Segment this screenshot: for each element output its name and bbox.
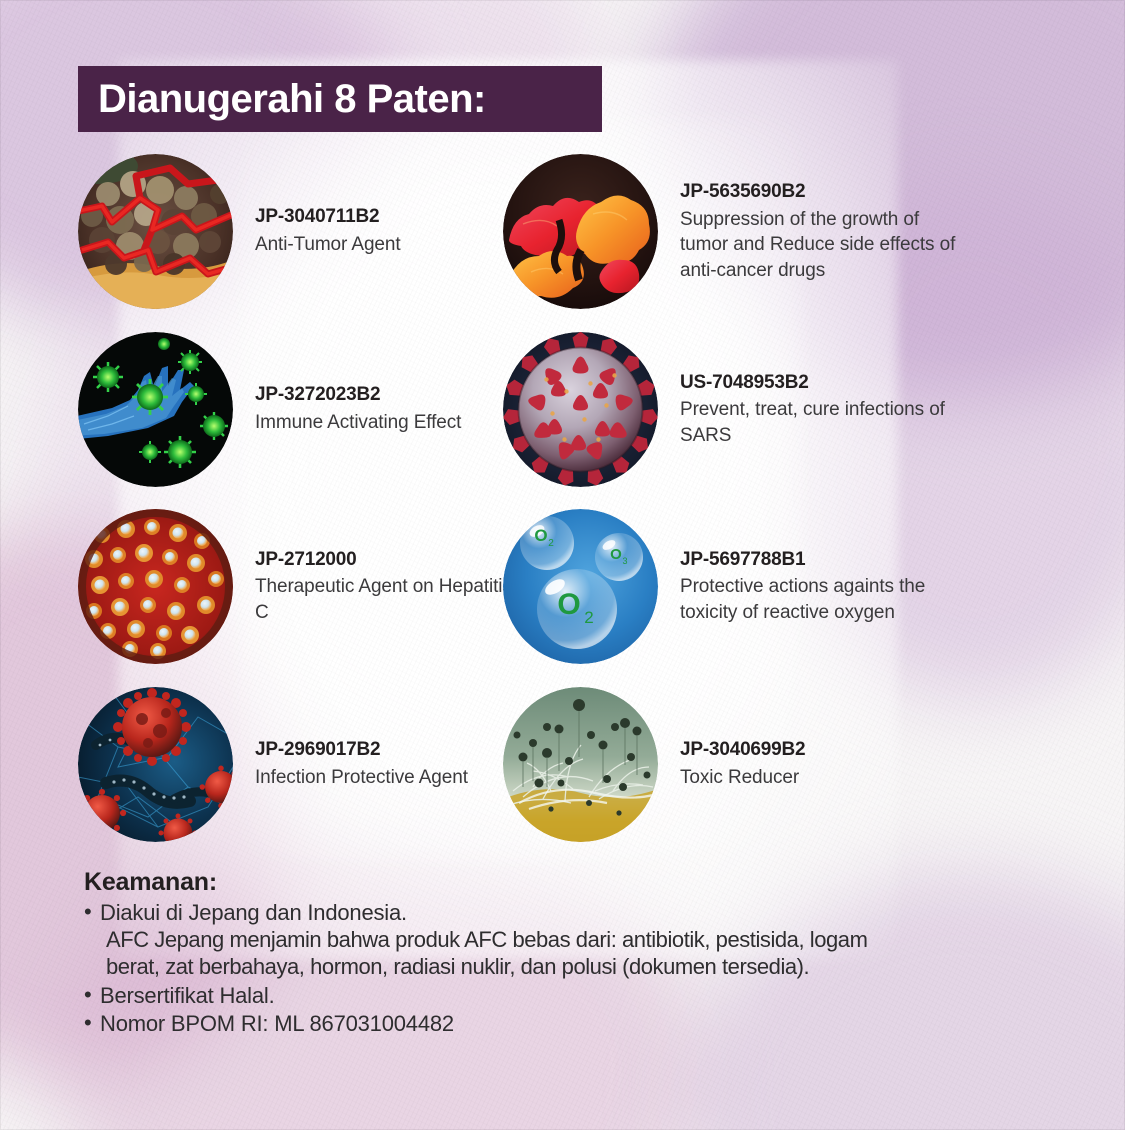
patent-description: Anti-Tumor Agent: [255, 232, 401, 257]
patent-description: Infection Protective Agent: [255, 765, 468, 790]
svg-text:2: 2: [548, 538, 554, 549]
svg-text:O: O: [557, 588, 580, 621]
poster-content: Dianugerahi 8 Paten:: [0, 0, 1125, 1130]
svg-text:2: 2: [584, 608, 593, 627]
svg-text:O: O: [534, 526, 547, 545]
safety-item-line2: berat, zat berbahaya, hormon, radiasi nu…: [106, 954, 1054, 981]
patent-item[interactable]: JP-2969017B2 Infection Protective Agent: [78, 681, 468, 847]
patent-code: US-7048953B2: [680, 370, 963, 396]
poster-page: Dianugerahi 8 Paten:: [0, 0, 1125, 1130]
safety-item-text: Nomor BPOM RI: ML 867031004482: [100, 1011, 454, 1036]
patent-description: Therapeutic Agent on Hepatitis C: [255, 574, 518, 625]
patent-caption: JP-3040699B2 Toxic Reducer: [680, 737, 805, 790]
coronavirus-particle-photo: [503, 332, 658, 487]
title-banner: Dianugerahi 8 Paten:: [78, 66, 602, 132]
patent-code: JP-3040699B2: [680, 737, 805, 763]
patent-description: Suppression of the growth of tumor and R…: [680, 207, 963, 283]
patent-item[interactable]: JP-5635690B2 Suppression of the growth o…: [503, 148, 963, 314]
patent-description: Prevent, treat, cure infections of SARS: [680, 397, 963, 448]
patent-caption: JP-5697788B1 Protective actions againts …: [680, 547, 963, 626]
patent-caption: JP-2969017B2 Infection Protective Agent: [255, 737, 468, 790]
safety-item-line1: AFC Jepang menjamin bahwa produk AFC beb…: [106, 927, 1054, 954]
patent-caption: JP-3272023B2 Immune Activating Effect: [255, 382, 461, 435]
safety-section: Keamanan: • Diakui di Jepang dan Indones…: [84, 868, 1054, 1038]
immune-hand-virus-photo: [78, 332, 233, 487]
patent-item[interactable]: JP-3272023B2 Immune Activating Effect: [78, 326, 461, 492]
tumor-cluster-photo: [503, 154, 658, 309]
safety-list-item: • Bersertifikat Halal.: [84, 982, 1054, 1009]
safety-list-item: • Nomor BPOM RI: ML 867031004482: [84, 1010, 1054, 1037]
bullet-icon: •: [84, 1009, 92, 1036]
safety-list-item: • Diakui di Jepang dan Indonesia.: [84, 899, 1054, 926]
patent-code: JP-5635690B2: [680, 179, 963, 205]
patent-caption: JP-5635690B2 Suppression of the growth o…: [680, 179, 963, 283]
patent-code: JP-5697788B1: [680, 547, 963, 573]
mold-fungus-photo: [503, 687, 658, 842]
safety-item-text: Bersertifikat Halal.: [100, 983, 275, 1008]
patent-code: JP-2712000: [255, 547, 518, 573]
virus-bacteria-network-photo: [78, 687, 233, 842]
svg-text:O: O: [610, 546, 622, 563]
patent-caption: JP-2712000 Therapeutic Agent on Hepatiti…: [255, 547, 518, 626]
safety-list: • Diakui di Jepang dan Indonesia. AFC Je…: [84, 899, 1054, 1037]
patent-description: Protective actions againts the toxicity …: [680, 574, 963, 625]
patent-item[interactable]: JP-3040699B2 Toxic Reducer: [503, 681, 805, 847]
patent-item[interactable]: JP-2712000 Therapeutic Agent on Hepatiti…: [78, 503, 518, 669]
patent-code: JP-3040711B2: [255, 204, 401, 230]
safety-item-text: Diakui di Jepang dan Indonesia.: [100, 900, 407, 925]
patent-item[interactable]: JP-3040711B2 Anti-Tumor Agent: [78, 148, 401, 314]
safety-heading: Keamanan:: [84, 868, 1054, 897]
safety-list-item-sub: AFC Jepang menjamin bahwa produk AFC beb…: [84, 927, 1054, 981]
svg-text:3: 3: [622, 556, 627, 566]
patent-code: JP-3272023B2: [255, 382, 461, 408]
bullet-icon: •: [84, 898, 92, 925]
patent-code: JP-2969017B2: [255, 737, 468, 763]
patent-description: Toxic Reducer: [680, 765, 805, 790]
patent-caption: US-7048953B2 Prevent, treat, cure infect…: [680, 370, 963, 449]
hepatitis-c-cells-photo: [78, 509, 233, 664]
oxygen-bubbles-photo: O 2 O 3: [503, 509, 658, 664]
patent-item[interactable]: US-7048953B2 Prevent, treat, cure infect…: [503, 326, 963, 492]
patent-item[interactable]: O 2 O 3: [503, 503, 963, 669]
page-title: Dianugerahi 8 Paten:: [98, 77, 486, 122]
bullet-icon: •: [84, 981, 92, 1008]
patent-description: Immune Activating Effect: [255, 410, 461, 435]
tumor-tissue-photo: [78, 154, 233, 309]
patent-caption: JP-3040711B2 Anti-Tumor Agent: [255, 204, 401, 257]
